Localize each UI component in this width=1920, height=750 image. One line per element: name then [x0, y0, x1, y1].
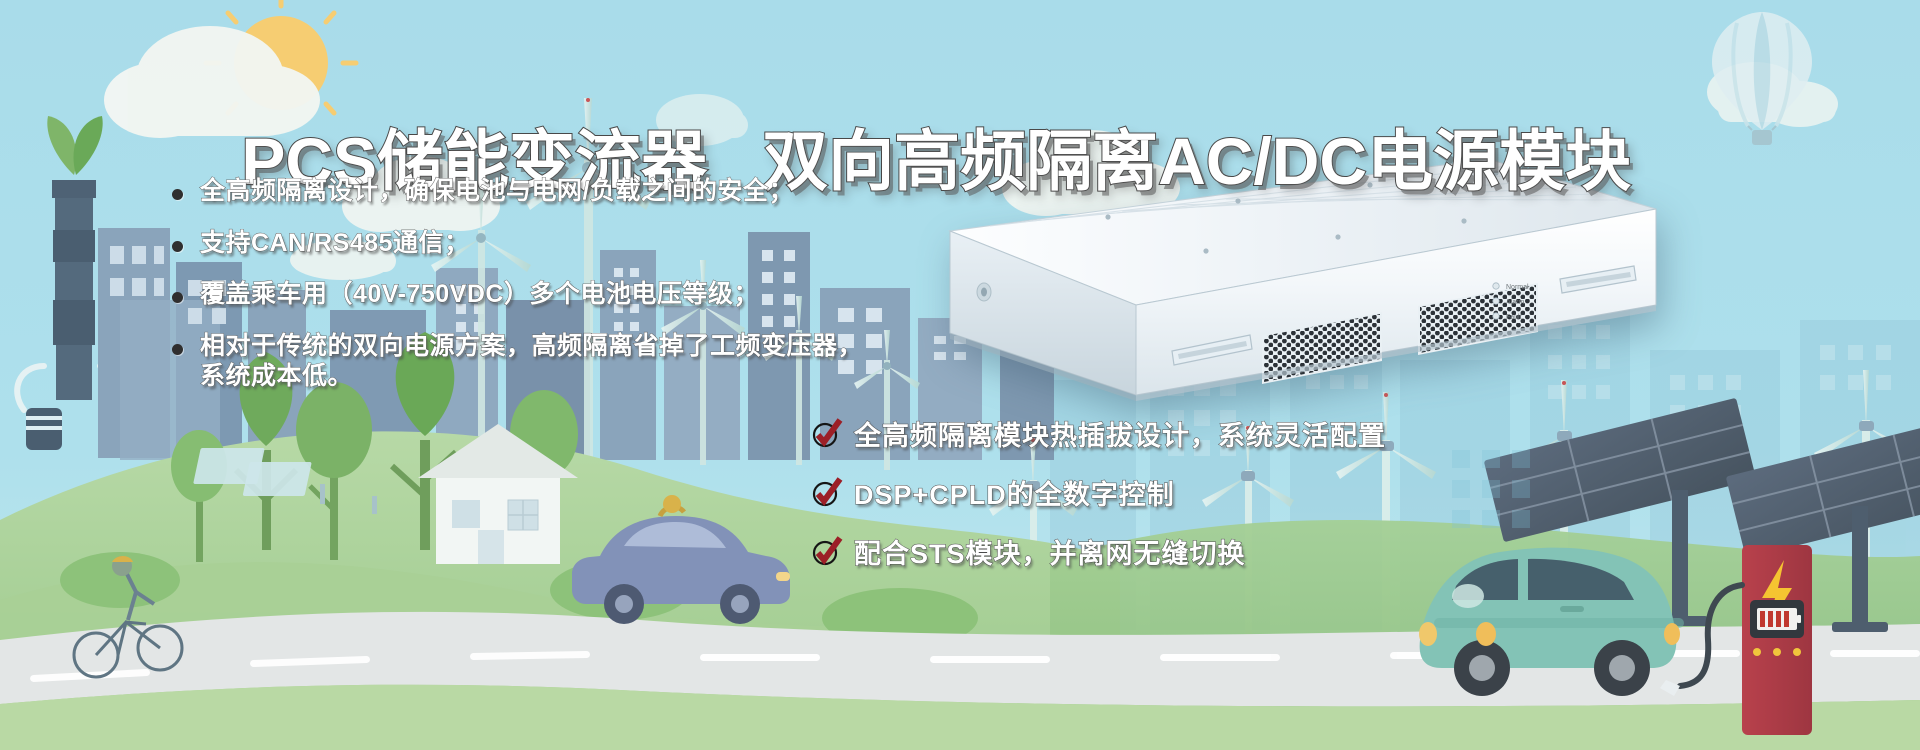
bullet-dot-icon	[172, 189, 183, 200]
feature-text: 相对于传统的双向电源方案，高频隔离省掉了工频变压器， 系统成本低。	[200, 331, 863, 392]
highlight-text: 全高频隔离模块热插拔设计，系统灵活配置	[854, 414, 1386, 453]
led-label-alarm: Alarm	[1506, 299, 1524, 306]
highlight-text: DSP+CPLD的全数字控制	[854, 473, 1175, 512]
city-dots-right	[1452, 450, 1530, 528]
list-item: 支持CAN/RS485通信；	[172, 228, 932, 259]
promo-banner: Normal Alarm Fault PCS储能变流器 双向高频隔离AC/DC电…	[0, 0, 1920, 750]
bullet-dot-icon	[172, 292, 183, 303]
list-item: 相对于传统的双向电源方案，高频隔离省掉了工频变压器， 系统成本低。	[172, 331, 932, 392]
bullet-dot-icon	[172, 344, 183, 355]
led-label-normal: Normal	[1506, 284, 1529, 291]
list-item: 配合STS模块，并离网无缝切换	[812, 533, 1386, 569]
list-item: 全高频隔离设计，确保电池与电网/负载之间的安全；	[172, 176, 932, 207]
feature-text: 全高频隔离设计，确保电池与电网/负载之间的安全；	[200, 176, 794, 207]
list-item: DSP+CPLD的全数字控制	[812, 474, 1386, 510]
led-label-fault: Fault	[1506, 314, 1522, 321]
list-item: 覆盖乘车用（40V-750VDC）多个电池电压等级；	[172, 279, 932, 310]
list-item: 全高频隔离模块热插拔设计，系统灵活配置	[812, 415, 1386, 451]
feature-bullet-list: 全高频隔离设计，确保电池与电网/负载之间的安全； 支持CAN/RS485通信； …	[172, 176, 932, 413]
check-circle-icon	[812, 418, 842, 448]
check-circle-icon	[812, 477, 842, 507]
bullet-dot-icon	[172, 241, 183, 252]
highlight-text: 配合STS模块，并离网无缝切换	[854, 532, 1246, 571]
feature-text: 支持CAN/RS485通信；	[200, 228, 470, 259]
highlight-check-list: 全高频隔离模块热插拔设计，系统灵活配置 DSP+CPLD的全数字控制 配合STS…	[812, 415, 1386, 592]
check-circle-icon	[812, 536, 842, 566]
feature-text: 覆盖乘车用（40V-750VDC）多个电池电压等级；	[200, 279, 759, 310]
